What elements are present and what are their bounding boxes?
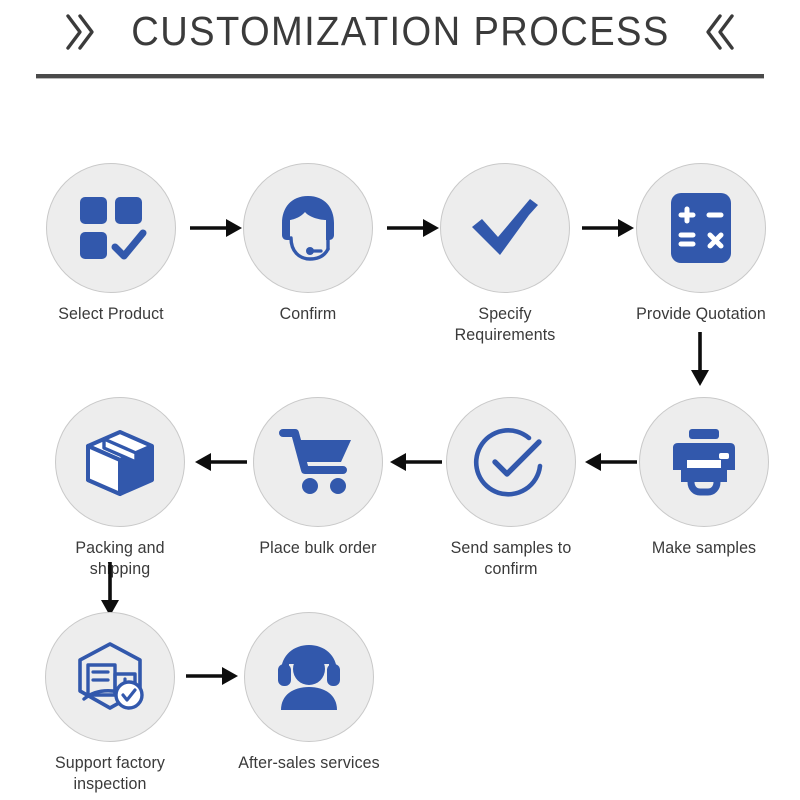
step-specify-requirements[interactable]: Specify Requirements: [430, 163, 580, 346]
step-support-factory-inspection[interactable]: Support factory inspection: [35, 612, 185, 795]
step-icon-badge: [636, 163, 766, 293]
infographic-page: CUSTOMIZATION PROCESS Select Product: [0, 0, 800, 800]
step-select-product[interactable]: Select Product: [36, 163, 186, 325]
step-icon-badge: [46, 163, 176, 293]
step-label: Confirm: [235, 304, 381, 325]
double-chevron-right-icon: [59, 9, 105, 55]
step-label: Specify Requirements: [432, 304, 578, 346]
step-place-bulk-order[interactable]: Place bulk order: [243, 397, 393, 559]
factory-inspection-icon: [71, 639, 149, 715]
title-divider: [36, 74, 764, 79]
headset-agent-icon: [269, 189, 347, 267]
page-title: CUSTOMIZATION PROCESS: [131, 8, 669, 55]
step-make-samples[interactable]: Make samples: [629, 397, 779, 559]
step-label: Send samples to confirm: [438, 538, 584, 580]
printer-icon: [665, 426, 743, 498]
page-title-block: CUSTOMIZATION PROCESS: [0, 8, 800, 55]
arrow-inspection-to-after-sales: [186, 662, 238, 695]
step-label: Select Product: [38, 304, 184, 325]
step-packing-and-shipping[interactable]: Packing and shipping: [45, 397, 195, 580]
arrow-send-samples-to-bulk-order: [390, 448, 442, 481]
support-person-icon: [269, 640, 349, 714]
step-confirm[interactable]: Confirm: [233, 163, 383, 325]
circle-check-icon: [471, 422, 551, 502]
grid-check-icon: [74, 191, 148, 265]
step-label: After-sales services: [236, 753, 382, 774]
step-label: Provide Quotation: [628, 304, 774, 325]
step-send-samples-to-confirm[interactable]: Send samples to confirm: [436, 397, 586, 580]
checkmark-icon: [466, 189, 544, 267]
arrow-select-to-confirm: [190, 214, 242, 247]
step-label: Place bulk order: [245, 538, 391, 559]
step-icon-badge: [243, 163, 373, 293]
step-icon-badge: [244, 612, 374, 742]
step-icon-badge: [440, 163, 570, 293]
package-box-icon: [80, 424, 160, 500]
step-icon-badge: [55, 397, 185, 527]
double-chevron-left-icon: [695, 9, 741, 55]
step-label: Support factory inspection: [37, 753, 183, 795]
arrow-specify-to-quotation: [582, 214, 634, 247]
step-icon-badge: [639, 397, 769, 527]
step-provide-quotation[interactable]: Provide Quotation: [626, 163, 776, 325]
step-icon-badge: [446, 397, 576, 527]
arrow-quotation-to-make-samples: [686, 332, 714, 391]
shopping-cart-icon: [279, 426, 357, 498]
step-label: Make samples: [631, 538, 777, 559]
arrow-bulk-order-to-packing: [195, 448, 247, 481]
arrow-confirm-to-specify: [387, 214, 439, 247]
step-icon-badge: [253, 397, 383, 527]
step-after-sales-services[interactable]: After-sales services: [234, 612, 384, 774]
calculator-icon: [665, 190, 737, 266]
step-icon-badge: [45, 612, 175, 742]
arrow-make-samples-to-send-samples: [585, 448, 637, 481]
